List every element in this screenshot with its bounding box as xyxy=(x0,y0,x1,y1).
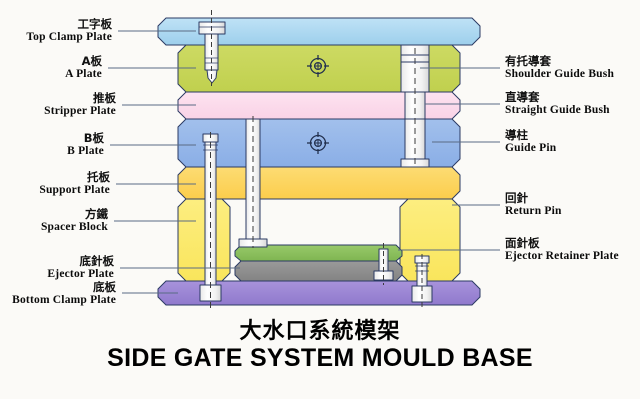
label-return-pin-en: Return Pin xyxy=(505,205,562,219)
label-ejector-retainer-plate: 面針板 Ejector Retainer Plate xyxy=(505,237,619,264)
label-straight-guide-bush: 直導套 Straight Guide Bush xyxy=(505,91,610,118)
label-a-plate: A板 A Plate xyxy=(65,55,102,82)
label-a-plate-cn: A板 xyxy=(65,55,102,68)
label-bottom-clamp-plate-en: Bottom Clamp Plate xyxy=(12,294,116,308)
label-top-clamp-plate: 工字板 Top Clamp Plate xyxy=(26,18,112,45)
diagram-canvas: 工字板 Top Clamp Plate A板 A Plate 推板 Stripp… xyxy=(0,0,640,410)
label-b-plate-cn: B板 xyxy=(67,132,104,145)
label-straight-guide-bush-cn: 直導套 xyxy=(505,91,610,104)
label-guide-pin-en: Guide Pin xyxy=(505,142,556,156)
label-return-pin: 回針 Return Pin xyxy=(505,192,562,219)
label-a-plate-en: A Plate xyxy=(65,68,102,82)
plate-support-plate xyxy=(178,167,460,199)
straight-guide-bush xyxy=(405,92,425,119)
label-shoulder-guide-bush-cn: 有托導套 xyxy=(505,55,614,68)
label-support-plate: 托板 Support Plate xyxy=(39,171,110,198)
label-b-plate: B板 B Plate xyxy=(67,132,104,159)
label-guide-pin-cn: 導柱 xyxy=(505,129,556,142)
bottom-white-strip xyxy=(0,399,640,410)
label-shoulder-guide-bush-en: Shoulder Guide Bush xyxy=(505,68,614,82)
label-shoulder-guide-bush: 有托導套 Shoulder Guide Bush xyxy=(505,55,614,82)
label-bottom-clamp-plate-cn: 底板 xyxy=(12,281,116,294)
page-title-chinese: 大水口系統模架 xyxy=(0,313,640,345)
label-top-clamp-plate-cn: 工字板 xyxy=(26,18,112,31)
label-guide-pin: 導柱 Guide Pin xyxy=(505,129,556,156)
label-ejector-plate: 底針板 Ejector Plate xyxy=(47,255,114,282)
label-spacer-block-cn: 方鐵 xyxy=(41,208,108,221)
label-stripper-plate-cn: 推板 xyxy=(44,92,116,105)
page-title-english: SIDE GATE SYSTEM MOULD BASE xyxy=(0,344,640,373)
label-stripper-plate: 推板 Stripper Plate xyxy=(44,92,116,119)
label-support-plate-en: Support Plate xyxy=(39,184,110,198)
label-support-plate-cn: 托板 xyxy=(39,171,110,184)
label-spacer-block: 方鐵 Spacer Block xyxy=(41,208,108,235)
label-ejector-plate-cn: 底針板 xyxy=(47,255,114,268)
label-top-clamp-plate-en: Top Clamp Plate xyxy=(26,31,112,45)
label-spacer-block-en: Spacer Block xyxy=(41,221,108,235)
label-b-plate-en: B Plate xyxy=(67,145,104,159)
label-stripper-plate-en: Stripper Plate xyxy=(44,105,116,119)
label-bottom-clamp-plate: 底板 Bottom Clamp Plate xyxy=(12,281,116,308)
label-return-pin-cn: 回針 xyxy=(505,192,562,205)
label-straight-guide-bush-en: Straight Guide Bush xyxy=(505,104,610,118)
label-ejector-retainer-plate-cn: 面針板 xyxy=(505,237,619,250)
label-ejector-retainer-plate-en: Ejector Retainer Plate xyxy=(505,250,619,264)
plate-spacer-block-left xyxy=(178,199,230,281)
plate-spacer-block-right xyxy=(400,199,460,281)
